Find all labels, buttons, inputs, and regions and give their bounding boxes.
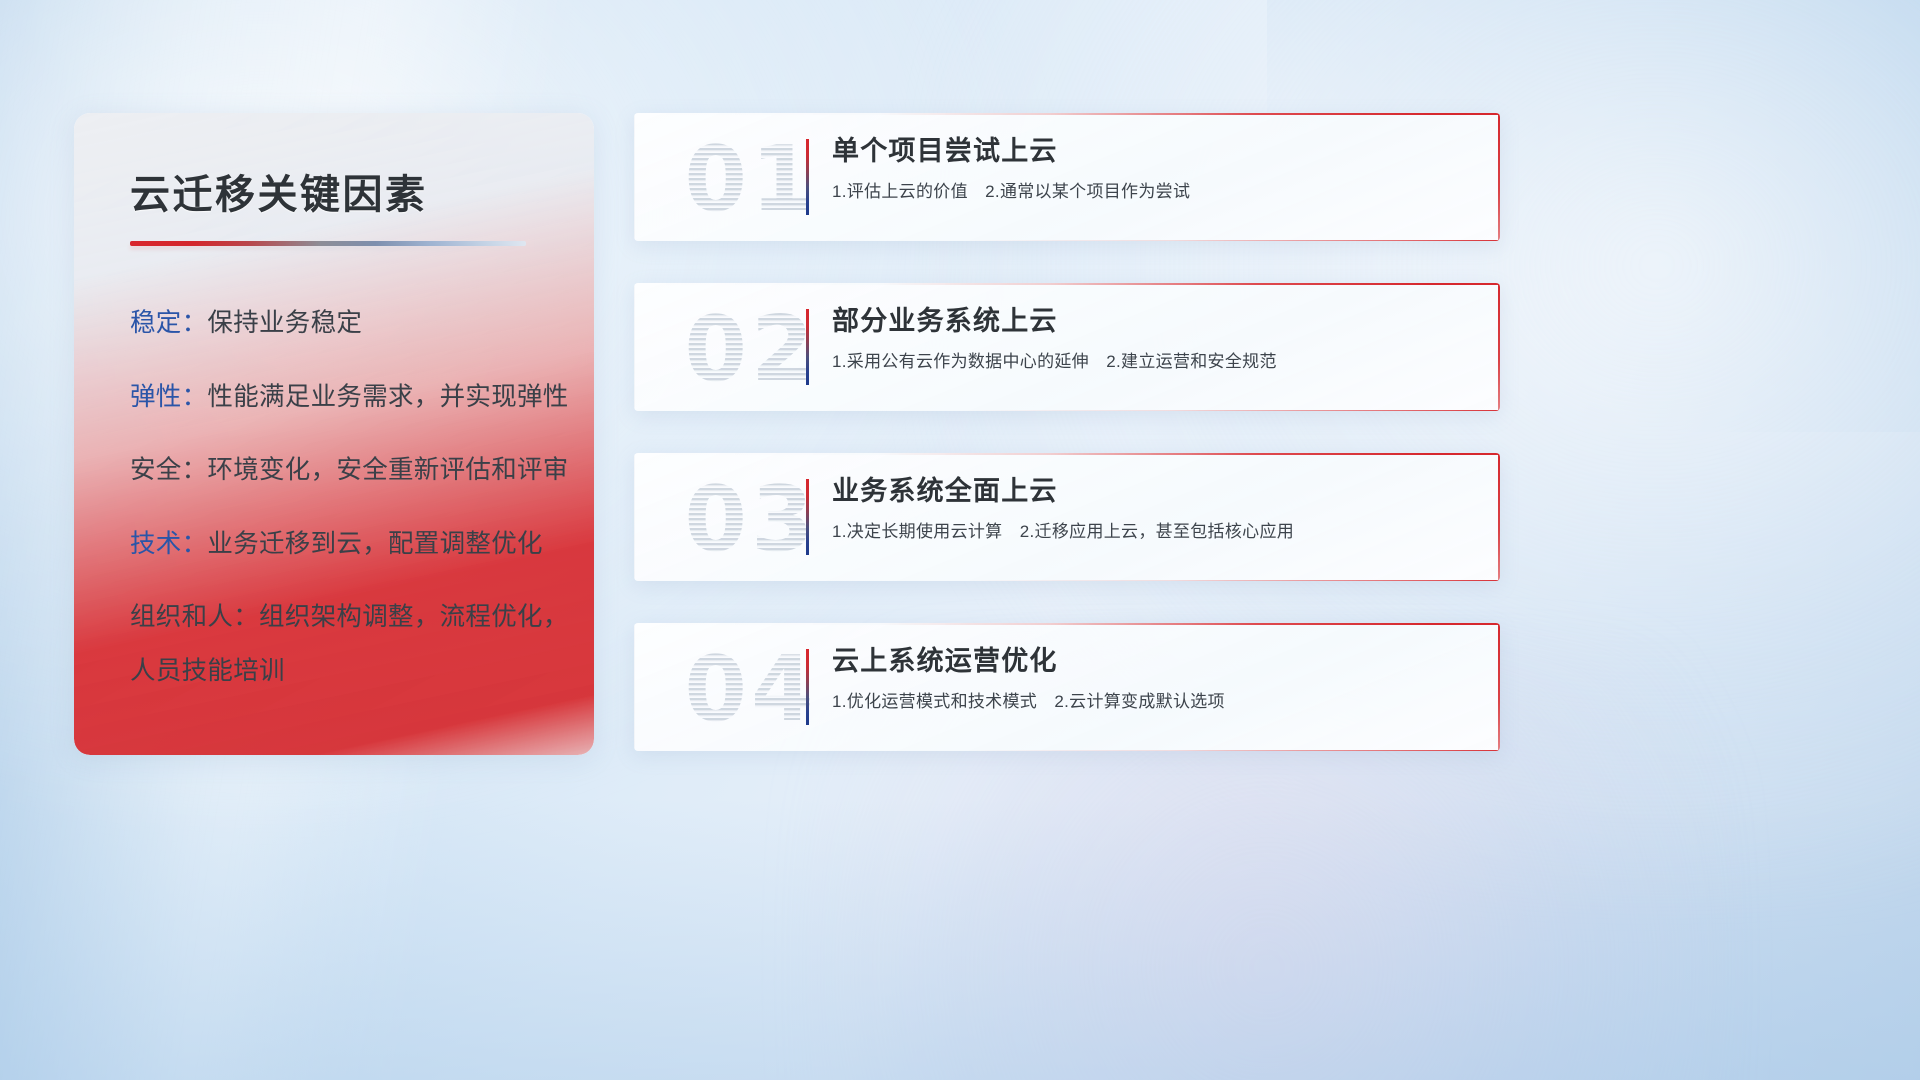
card-title: 业务系统全面上云	[832, 475, 1474, 507]
card-title: 单个项目尝试上云	[832, 135, 1474, 167]
factor-label: 稳定：	[130, 309, 207, 337]
stage-card[interactable]: 04 云上系统运营优化 1.优化运营模式和技术模式 2.云计算变成默认选项	[634, 623, 1500, 751]
factor-label: 组织和人：	[130, 603, 259, 631]
card-left-edge	[634, 113, 635, 241]
factor-text-continuation: 人员技能培训	[130, 657, 285, 685]
card-top-accent	[634, 283, 1500, 285]
card-subtitle: 1.评估上云的价值 2.通常以某个项目作为尝试	[832, 181, 1474, 203]
stage-card[interactable]: 02 部分业务系统上云 1.采用公有云作为数据中心的延伸 2.建立运营和安全规范	[634, 283, 1500, 411]
title-underline-glow	[130, 246, 526, 249]
factor-text: 保持业务稳定	[207, 309, 362, 337]
card-number: 01	[656, 123, 846, 235]
card-left-edge	[634, 453, 635, 581]
factor-label: 弹性：	[130, 383, 207, 411]
card-title: 云上系统运营优化	[832, 645, 1474, 677]
factor-item: 安全：环境变化，安全重新评估和评审	[130, 458, 552, 484]
card-top-accent	[634, 113, 1500, 115]
card-title: 部分业务系统上云	[832, 305, 1474, 337]
card-top-accent	[634, 453, 1500, 455]
card-subtitle: 1.决定长期使用云计算 2.迁移应用上云，甚至包括核心应用	[832, 521, 1474, 543]
card-divider-bar	[806, 479, 809, 555]
key-factors-panel: 云迁移关键因素 稳定：保持业务稳定 弹性：性能满足业务需求，并实现弹性 安全：环…	[74, 113, 594, 755]
factor-text: 业务迁移到云，配置调整优化	[207, 530, 542, 558]
card-number: 03	[656, 463, 846, 575]
card-top-accent	[634, 623, 1500, 625]
card-subtitle: 1.采用公有云作为数据中心的延伸 2.建立运营和安全规范	[832, 351, 1474, 373]
card-body: 云上系统运营优化 1.优化运营模式和技术模式 2.云计算变成默认选项	[832, 645, 1474, 713]
card-number: 04	[656, 633, 846, 745]
factor-item: 技术：业务迁移到云，配置调整优化	[130, 532, 552, 558]
card-bottom-accent	[634, 240, 1500, 241]
stage-card[interactable]: 01 单个项目尝试上云 1.评估上云的价值 2.通常以某个项目作为尝试	[634, 113, 1500, 241]
page-title: 云迁移关键因素	[130, 173, 552, 217]
card-right-accent	[1498, 283, 1500, 411]
card-subtitle: 1.优化运营模式和技术模式 2.云计算变成默认选项	[832, 691, 1474, 713]
card-body: 单个项目尝试上云 1.评估上云的价值 2.通常以某个项目作为尝试	[832, 135, 1474, 203]
card-bottom-accent	[634, 410, 1500, 411]
card-divider-bar	[806, 139, 809, 215]
card-number: 02	[656, 293, 846, 405]
card-left-edge	[634, 283, 635, 411]
card-right-accent	[1498, 623, 1500, 751]
stage-card[interactable]: 03 业务系统全面上云 1.决定长期使用云计算 2.迁移应用上云，甚至包括核心应…	[634, 453, 1500, 581]
stage-card-list: 01 单个项目尝试上云 1.评估上云的价值 2.通常以某个项目作为尝试 02 部…	[634, 113, 1504, 751]
factor-item: 稳定：保持业务稳定	[130, 311, 552, 337]
factor-text: 性能满足业务需求，并实现弹性	[207, 383, 568, 411]
card-bottom-accent	[634, 750, 1500, 751]
card-divider-bar	[806, 649, 809, 725]
card-bottom-accent	[634, 580, 1500, 581]
card-right-accent	[1498, 453, 1500, 581]
card-left-edge	[634, 623, 635, 751]
factor-text: 环境变化，安全重新评估和评审	[207, 456, 568, 484]
factor-item: 组织和人：组织架构调整，流程优化，	[130, 605, 552, 631]
factor-label: 安全：	[130, 456, 207, 484]
factor-item: 弹性：性能满足业务需求，并实现弹性	[130, 385, 552, 411]
panel-content: 云迁移关键因素 稳定：保持业务稳定 弹性：性能满足业务需求，并实现弹性 安全：环…	[74, 113, 594, 755]
factor-list: 稳定：保持业务稳定 弹性：性能满足业务需求，并实现弹性 安全：环境变化，安全重新…	[130, 311, 552, 684]
card-body: 部分业务系统上云 1.采用公有云作为数据中心的延伸 2.建立运营和安全规范	[832, 305, 1474, 373]
factor-text: 组织架构调整，流程优化，	[259, 603, 569, 631]
slide-stage: 云迁移关键因素 稳定：保持业务稳定 弹性：性能满足业务需求，并实现弹性 安全：环…	[0, 0, 1920, 1080]
card-body: 业务系统全面上云 1.决定长期使用云计算 2.迁移应用上云，甚至包括核心应用	[832, 475, 1474, 543]
factor-item-continuation: 人员技能培训	[130, 659, 552, 685]
factor-label: 技术：	[130, 530, 207, 558]
card-right-accent	[1498, 113, 1500, 241]
card-divider-bar	[806, 309, 809, 385]
